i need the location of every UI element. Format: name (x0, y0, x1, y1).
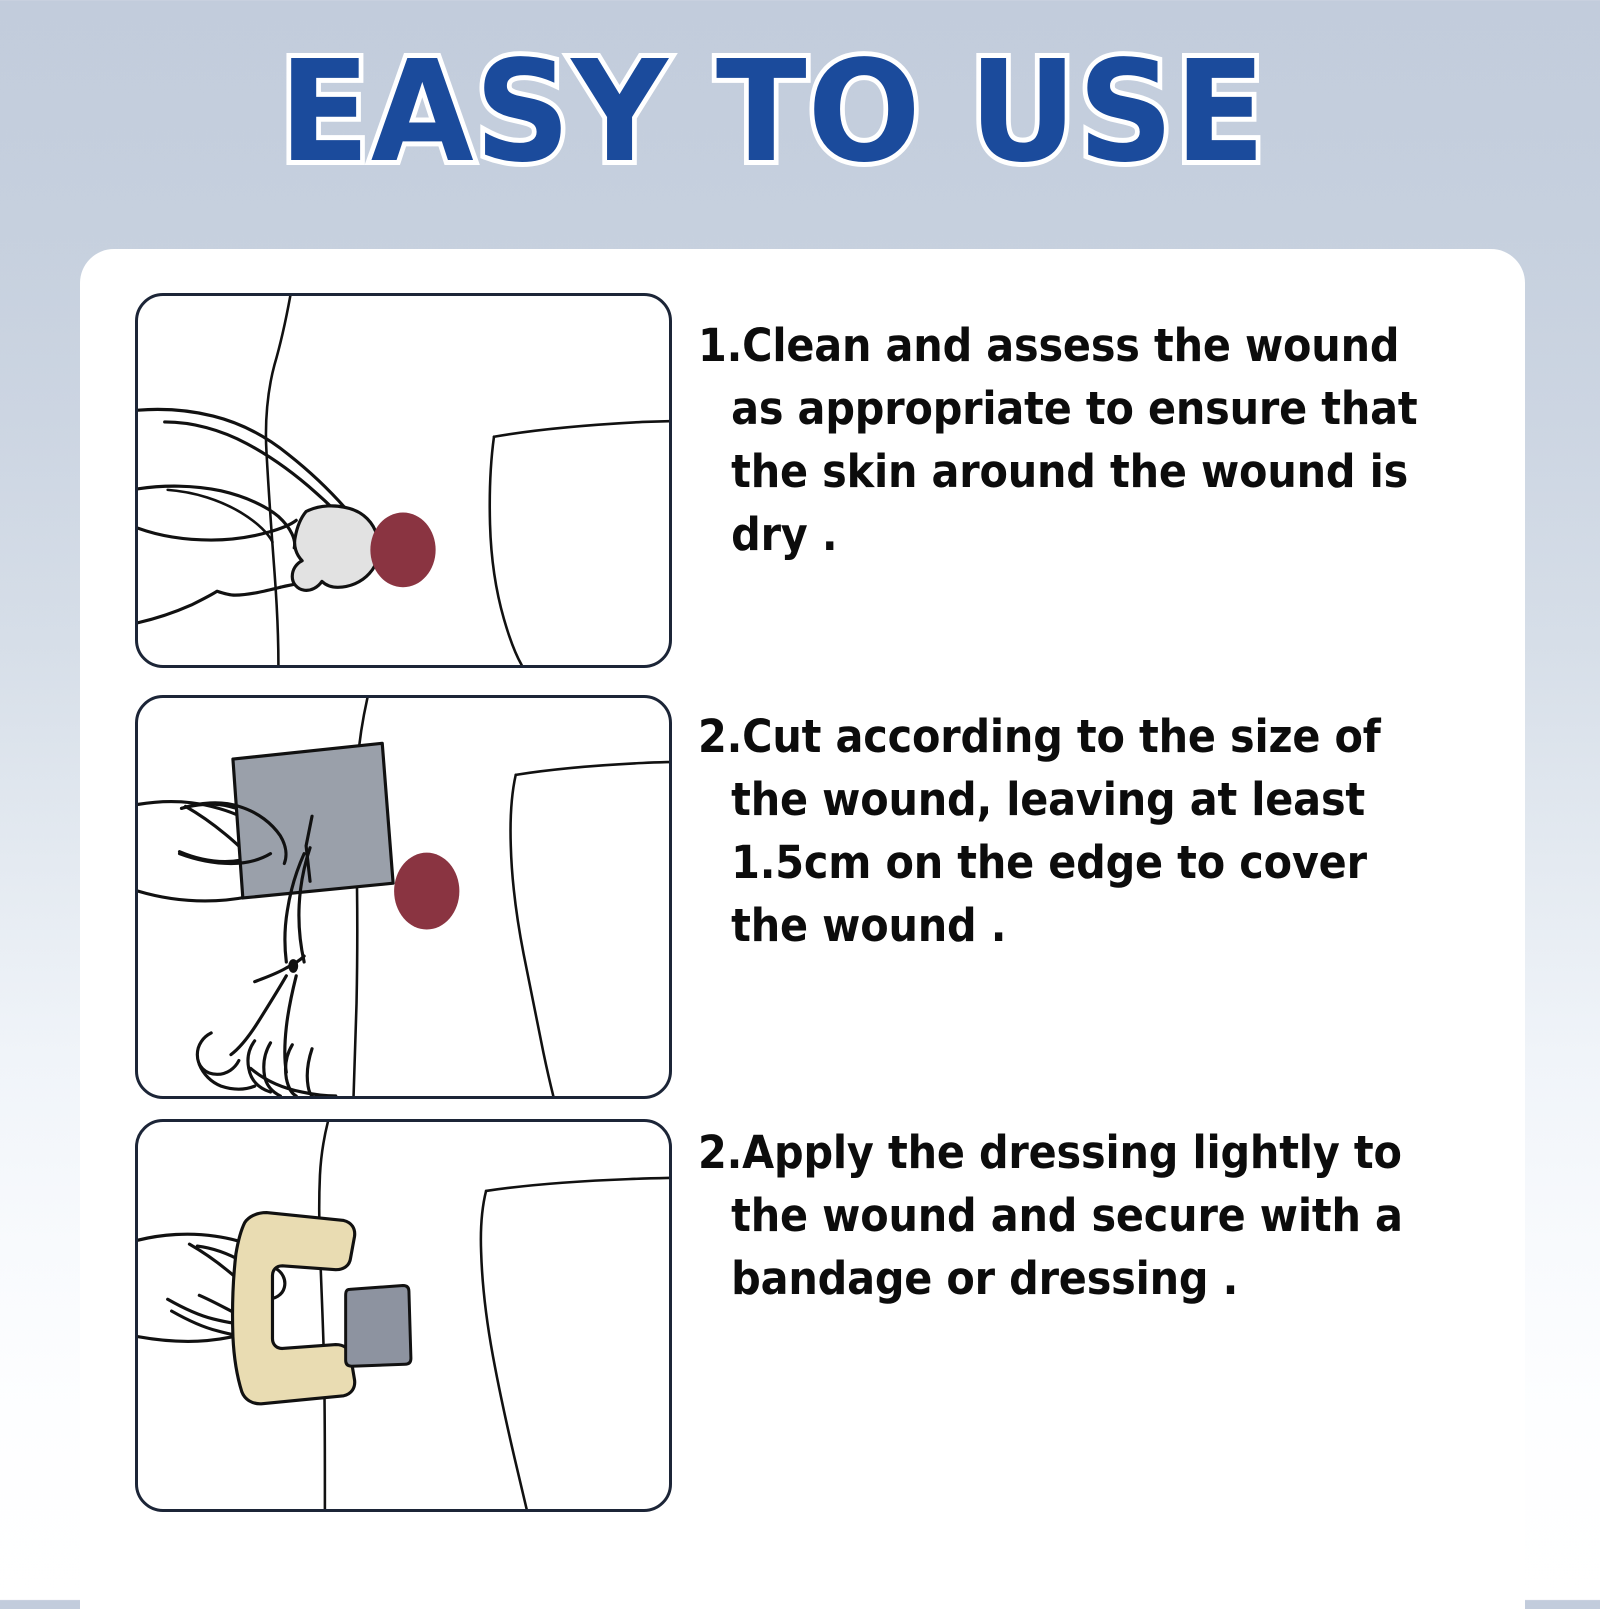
scissors-pivot (288, 959, 298, 973)
wound-spot (394, 853, 459, 930)
step-1-text: 1.Clean and assess the wound as appropri… (698, 314, 1425, 566)
gray-dressing-pad (233, 743, 393, 898)
steps-list: 1.Clean and assess the wound as appropri… (0, 0, 1600, 1600)
step-row-1: 1.Clean and assess the wound as appropri… (0, 293, 1600, 668)
beige-bandage (233, 1213, 355, 1404)
step-2-illustration-panel (135, 695, 672, 1099)
step-2-text: 2.Cut according to the size of the wound… (698, 705, 1425, 957)
step-3-illustration-panel (135, 1119, 672, 1512)
step-row-2: 2.Cut according to the size of the wound… (0, 695, 1600, 1099)
step-3-text: 2.Apply the dressing lightly to the woun… (698, 1121, 1425, 1310)
hand-cleaning-wound-with-swab-icon (138, 296, 669, 665)
cotton-swab-icon (292, 506, 379, 590)
step-row-3: 2.Apply the dressing lightly to the woun… (0, 1119, 1600, 1512)
hand-applying-dressing-to-wound-icon (138, 1122, 669, 1509)
wound-spot (370, 512, 435, 587)
hand-cutting-dressing-with-scissors-icon (138, 698, 669, 1096)
gray-dressing-square (346, 1285, 411, 1366)
step-1-illustration-panel (135, 293, 672, 668)
